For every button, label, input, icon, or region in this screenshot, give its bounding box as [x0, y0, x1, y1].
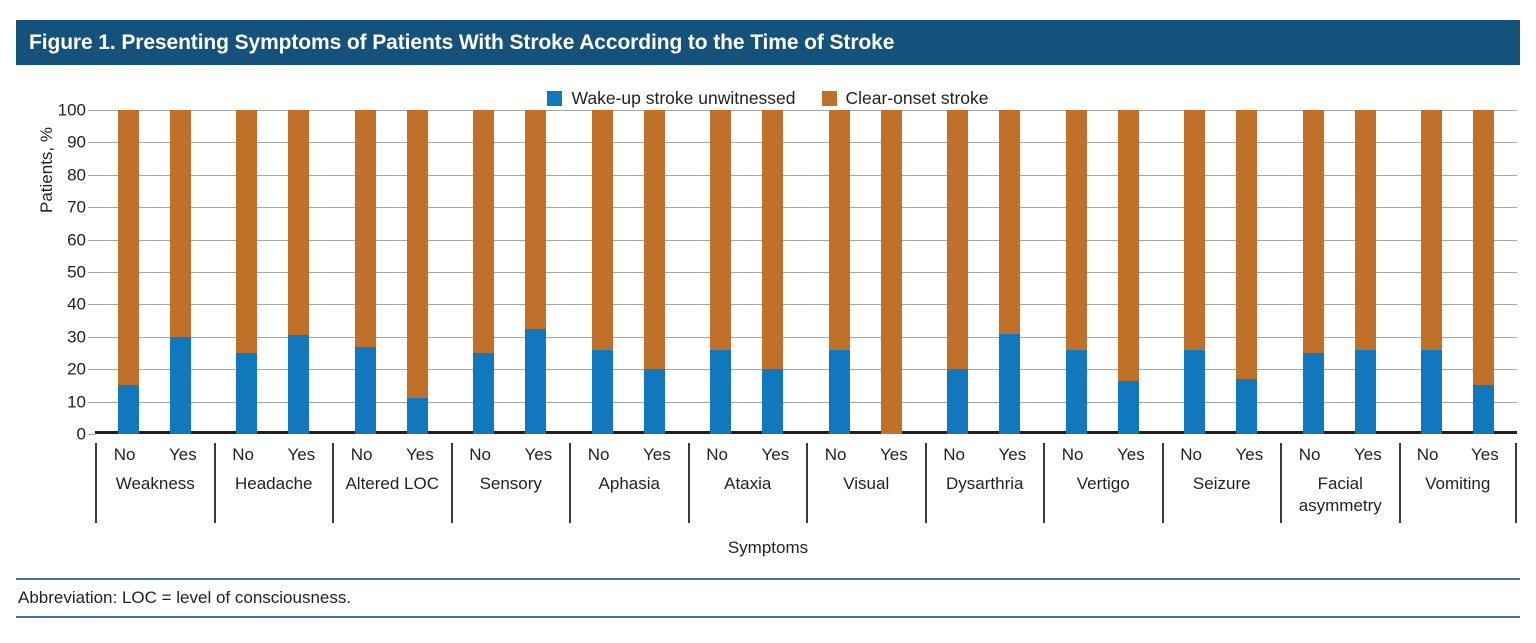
- x-group-dysarthria: NoYesDysarthria: [925, 443, 1044, 523]
- x-group-name-label: Vomiting: [1401, 473, 1516, 495]
- x-axis-group-labels: NoYesWeaknessNoYesHeadacheNoYesAltered L…: [95, 443, 1517, 523]
- x-level-label-yes: Yes: [169, 445, 197, 465]
- x-group-name-label: Altered LOC: [334, 473, 451, 495]
- bar-segment-wake-up-stroke: [644, 369, 665, 434]
- bar-segment-wake-up-stroke: [1184, 350, 1205, 434]
- y-tickmark-40: [88, 304, 95, 305]
- y-axis-tick-labels: 0102030405060708090100: [40, 110, 86, 434]
- bar-segment-clear-onset-stroke: [1066, 110, 1087, 350]
- y-axis-tick-10: 10: [40, 393, 86, 410]
- bar-segment-wake-up-stroke: [1066, 350, 1087, 434]
- x-group-levels: NoYes: [571, 445, 688, 465]
- bar-segment-clear-onset-stroke: [1118, 110, 1139, 381]
- bar-segment-wake-up-stroke: [1355, 350, 1376, 434]
- x-group-levels: NoYes: [216, 445, 333, 465]
- bar-segment-clear-onset-stroke: [525, 110, 546, 329]
- y-axis-tick-0: 0: [40, 426, 86, 443]
- bar-vomiting-no: [1421, 110, 1442, 434]
- bar-sensory-yes: [525, 110, 546, 434]
- x-group-levels: NoYes: [1045, 445, 1162, 465]
- bar-vomiting-yes: [1473, 110, 1494, 434]
- x-group-name-label: Sensory: [453, 473, 570, 495]
- x-level-label-no: No: [469, 445, 491, 465]
- figure-footer: Abbreviation: LOC = level of consciousne…: [16, 578, 1520, 618]
- x-level-label-yes: Yes: [1354, 445, 1382, 465]
- bar-segment-clear-onset-stroke: [355, 110, 376, 347]
- x-level-label-no: No: [1299, 445, 1321, 465]
- bar-segment-clear-onset-stroke: [947, 110, 968, 369]
- y-tickmark-50: [88, 272, 95, 273]
- legend-label-clear-onset-stroke: Clear-onset stroke: [846, 88, 989, 109]
- bar-segment-wake-up-stroke: [829, 350, 850, 434]
- x-group-levels: NoYes: [1282, 445, 1399, 465]
- bar-segment-wake-up-stroke: [1473, 385, 1494, 434]
- x-group-name-label: Seizure: [1164, 473, 1281, 495]
- x-level-label-yes: Yes: [880, 445, 908, 465]
- bar-segment-clear-onset-stroke: [1421, 110, 1442, 350]
- x-level-label-no: No: [706, 445, 728, 465]
- bar-segment-wake-up-stroke: [473, 353, 494, 434]
- x-group-name-label: Dysarthria: [927, 473, 1044, 495]
- y-tickmark-30: [88, 337, 95, 338]
- page-title: Figure 1. Presenting Symptoms of Patient…: [29, 31, 894, 55]
- x-group-levels: NoYes: [690, 445, 807, 465]
- x-level-label-yes: Yes: [1117, 445, 1145, 465]
- y-tickmark-10: [88, 402, 95, 403]
- bar-sensory-no: [473, 110, 494, 434]
- y-axis-tick-80: 80: [40, 166, 86, 183]
- x-group-vertigo: NoYesVertigo: [1043, 443, 1162, 523]
- bar-aphasia-no: [592, 110, 613, 434]
- plot-area: [95, 110, 1517, 434]
- x-group-ataxia: NoYesAtaxia: [688, 443, 807, 523]
- x-group-name-label: Visual: [808, 473, 925, 495]
- y-axis-tick-20: 20: [40, 361, 86, 378]
- bar-segment-clear-onset-stroke: [762, 110, 783, 369]
- y-axis-tick-60: 60: [40, 231, 86, 248]
- footnote-text: Abbreviation: LOC = level of consciousne…: [16, 580, 1520, 616]
- y-tickmark-70: [88, 207, 95, 208]
- bar-segment-clear-onset-stroke: [592, 110, 613, 350]
- bar-segment-wake-up-stroke: [407, 398, 428, 434]
- x-group-name-label: Facial asymmetry: [1282, 473, 1399, 517]
- y-axis-tick-30: 30: [40, 328, 86, 345]
- x-level-label-yes: Yes: [762, 445, 790, 465]
- x-group-name-label: Vertigo: [1045, 473, 1162, 495]
- bar-segment-clear-onset-stroke: [1236, 110, 1257, 379]
- x-level-label-yes: Yes: [288, 445, 316, 465]
- bar-visual-yes: [881, 110, 902, 434]
- x-group-aphasia: NoYesAphasia: [569, 443, 688, 523]
- bar-segment-wake-up-stroke: [1421, 350, 1442, 434]
- x-axis-title: Symptoms: [0, 538, 1536, 558]
- legend-item-clear-onset-stroke: Clear-onset stroke: [822, 88, 989, 109]
- x-group-facial-asymmetry: NoYesFacial asymmetry: [1280, 443, 1399, 523]
- legend-swatch-clear-onset-stroke: [822, 91, 837, 106]
- legend-item-wake-up-stroke: Wake-up stroke unwitnessed: [547, 88, 795, 109]
- bar-facial-asymmetry-yes: [1355, 110, 1376, 434]
- x-group-levels: NoYes: [927, 445, 1044, 465]
- bar-segment-wake-up-stroke: [525, 329, 546, 434]
- chart-legend: Wake-up stroke unwitnessed Clear-onset s…: [0, 88, 1536, 109]
- y-tickmark-0: [88, 434, 95, 435]
- bar-segment-wake-up-stroke: [710, 350, 731, 434]
- bar-segment-clear-onset-stroke: [170, 110, 191, 337]
- x-group-levels: NoYes: [1164, 445, 1281, 465]
- bar-segment-clear-onset-stroke: [1355, 110, 1376, 350]
- bar-seizure-no: [1184, 110, 1205, 434]
- bar-segment-clear-onset-stroke: [288, 110, 309, 335]
- bar-segment-clear-onset-stroke: [644, 110, 665, 369]
- bar-segment-clear-onset-stroke: [118, 110, 139, 385]
- bar-altered-loc-yes: [407, 110, 428, 434]
- bar-segment-wake-up-stroke: [999, 334, 1020, 434]
- footer-rule-bottom: [16, 616, 1520, 618]
- x-level-label-no: No: [114, 445, 136, 465]
- bar-segment-wake-up-stroke: [947, 369, 968, 434]
- bar-vertigo-yes: [1118, 110, 1139, 434]
- bar-segment-wake-up-stroke: [592, 350, 613, 434]
- x-level-label-no: No: [588, 445, 610, 465]
- x-level-label-yes: Yes: [406, 445, 434, 465]
- bar-weakness-no: [118, 110, 139, 434]
- y-tickmark-60: [88, 240, 95, 241]
- y-axis-tick-90: 90: [40, 134, 86, 151]
- y-axis-tick-40: 40: [40, 296, 86, 313]
- bar-segment-clear-onset-stroke: [473, 110, 494, 353]
- x-level-label-no: No: [232, 445, 254, 465]
- bar-dysarthria-no: [947, 110, 968, 434]
- bar-segment-wake-up-stroke: [288, 335, 309, 434]
- bar-segment-wake-up-stroke: [1303, 353, 1324, 434]
- x-level-label-no: No: [351, 445, 373, 465]
- x-level-label-yes: Yes: [525, 445, 553, 465]
- x-level-label-yes: Yes: [999, 445, 1027, 465]
- legend-swatch-wake-up-stroke: [547, 91, 562, 106]
- bar-aphasia-yes: [644, 110, 665, 434]
- bar-segment-wake-up-stroke: [1118, 381, 1139, 434]
- x-group-seizure: NoYesSeizure: [1162, 443, 1281, 523]
- bar-segment-clear-onset-stroke: [999, 110, 1020, 334]
- gridline-0: [95, 434, 1517, 435]
- bar-visual-no: [829, 110, 850, 434]
- bar-altered-loc-no: [355, 110, 376, 434]
- x-group-levels: NoYes: [334, 445, 451, 465]
- bar-segment-clear-onset-stroke: [710, 110, 731, 350]
- bar-facial-asymmetry-no: [1303, 110, 1324, 434]
- bar-vertigo-no: [1066, 110, 1087, 434]
- bar-segment-wake-up-stroke: [170, 337, 191, 434]
- bar-seizure-yes: [1236, 110, 1257, 434]
- bar-segment-clear-onset-stroke: [881, 110, 902, 434]
- x-level-label-yes: Yes: [643, 445, 671, 465]
- bar-headache-no: [236, 110, 257, 434]
- y-tickmark-90: [88, 142, 95, 143]
- bar-ataxia-yes: [762, 110, 783, 434]
- x-group-name-label: Headache: [216, 473, 333, 495]
- x-level-label-yes: Yes: [1471, 445, 1499, 465]
- bar-segment-clear-onset-stroke: [1303, 110, 1324, 353]
- x-level-label-no: No: [1062, 445, 1084, 465]
- x-group-vomiting: NoYesVomiting: [1399, 443, 1518, 523]
- bar-segment-wake-up-stroke: [236, 353, 257, 434]
- figure-title-bar: Figure 1. Presenting Symptoms of Patient…: [16, 20, 1520, 65]
- bar-segment-wake-up-stroke: [355, 347, 376, 434]
- bar-segment-clear-onset-stroke: [236, 110, 257, 353]
- y-axis-tick-50: 50: [40, 264, 86, 281]
- x-group-name-label: Aphasia: [571, 473, 688, 495]
- x-group-weakness: NoYesWeakness: [95, 443, 214, 523]
- x-level-label-yes: Yes: [1236, 445, 1264, 465]
- x-group-sensory: NoYesSensory: [451, 443, 570, 523]
- bar-segment-wake-up-stroke: [118, 385, 139, 434]
- bar-segment-clear-onset-stroke: [1184, 110, 1205, 350]
- x-group-levels: NoYes: [808, 445, 925, 465]
- y-axis-tick-70: 70: [40, 199, 86, 216]
- x-group-levels: NoYes: [1401, 445, 1516, 465]
- legend-label-wake-up-stroke: Wake-up stroke unwitnessed: [571, 88, 795, 109]
- x-level-label-no: No: [825, 445, 847, 465]
- x-group-name-label: Ataxia: [690, 473, 807, 495]
- x-group-visual: NoYesVisual: [806, 443, 925, 523]
- bar-segment-clear-onset-stroke: [407, 110, 428, 398]
- bar-segment-wake-up-stroke: [762, 369, 783, 434]
- bar-segment-clear-onset-stroke: [829, 110, 850, 350]
- bar-segment-wake-up-stroke: [1236, 379, 1257, 434]
- x-group-levels: NoYes: [97, 445, 214, 465]
- y-tickmark-20: [88, 369, 95, 370]
- x-group-altered-loc: NoYesAltered LOC: [332, 443, 451, 523]
- bar-segment-clear-onset-stroke: [1473, 110, 1494, 385]
- bar-dysarthria-yes: [999, 110, 1020, 434]
- y-axis-tick-100: 100: [40, 102, 86, 119]
- x-level-label-no: No: [1417, 445, 1439, 465]
- x-level-label-no: No: [943, 445, 965, 465]
- x-group-headache: NoYesHeadache: [214, 443, 333, 523]
- bar-headache-yes: [288, 110, 309, 434]
- bar-ataxia-no: [710, 110, 731, 434]
- x-group-levels: NoYes: [453, 445, 570, 465]
- bar-weakness-yes: [170, 110, 191, 434]
- y-tickmark-100: [88, 110, 95, 111]
- y-tickmark-80: [88, 175, 95, 176]
- x-group-name-label: Weakness: [97, 473, 214, 495]
- x-level-label-no: No: [1180, 445, 1202, 465]
